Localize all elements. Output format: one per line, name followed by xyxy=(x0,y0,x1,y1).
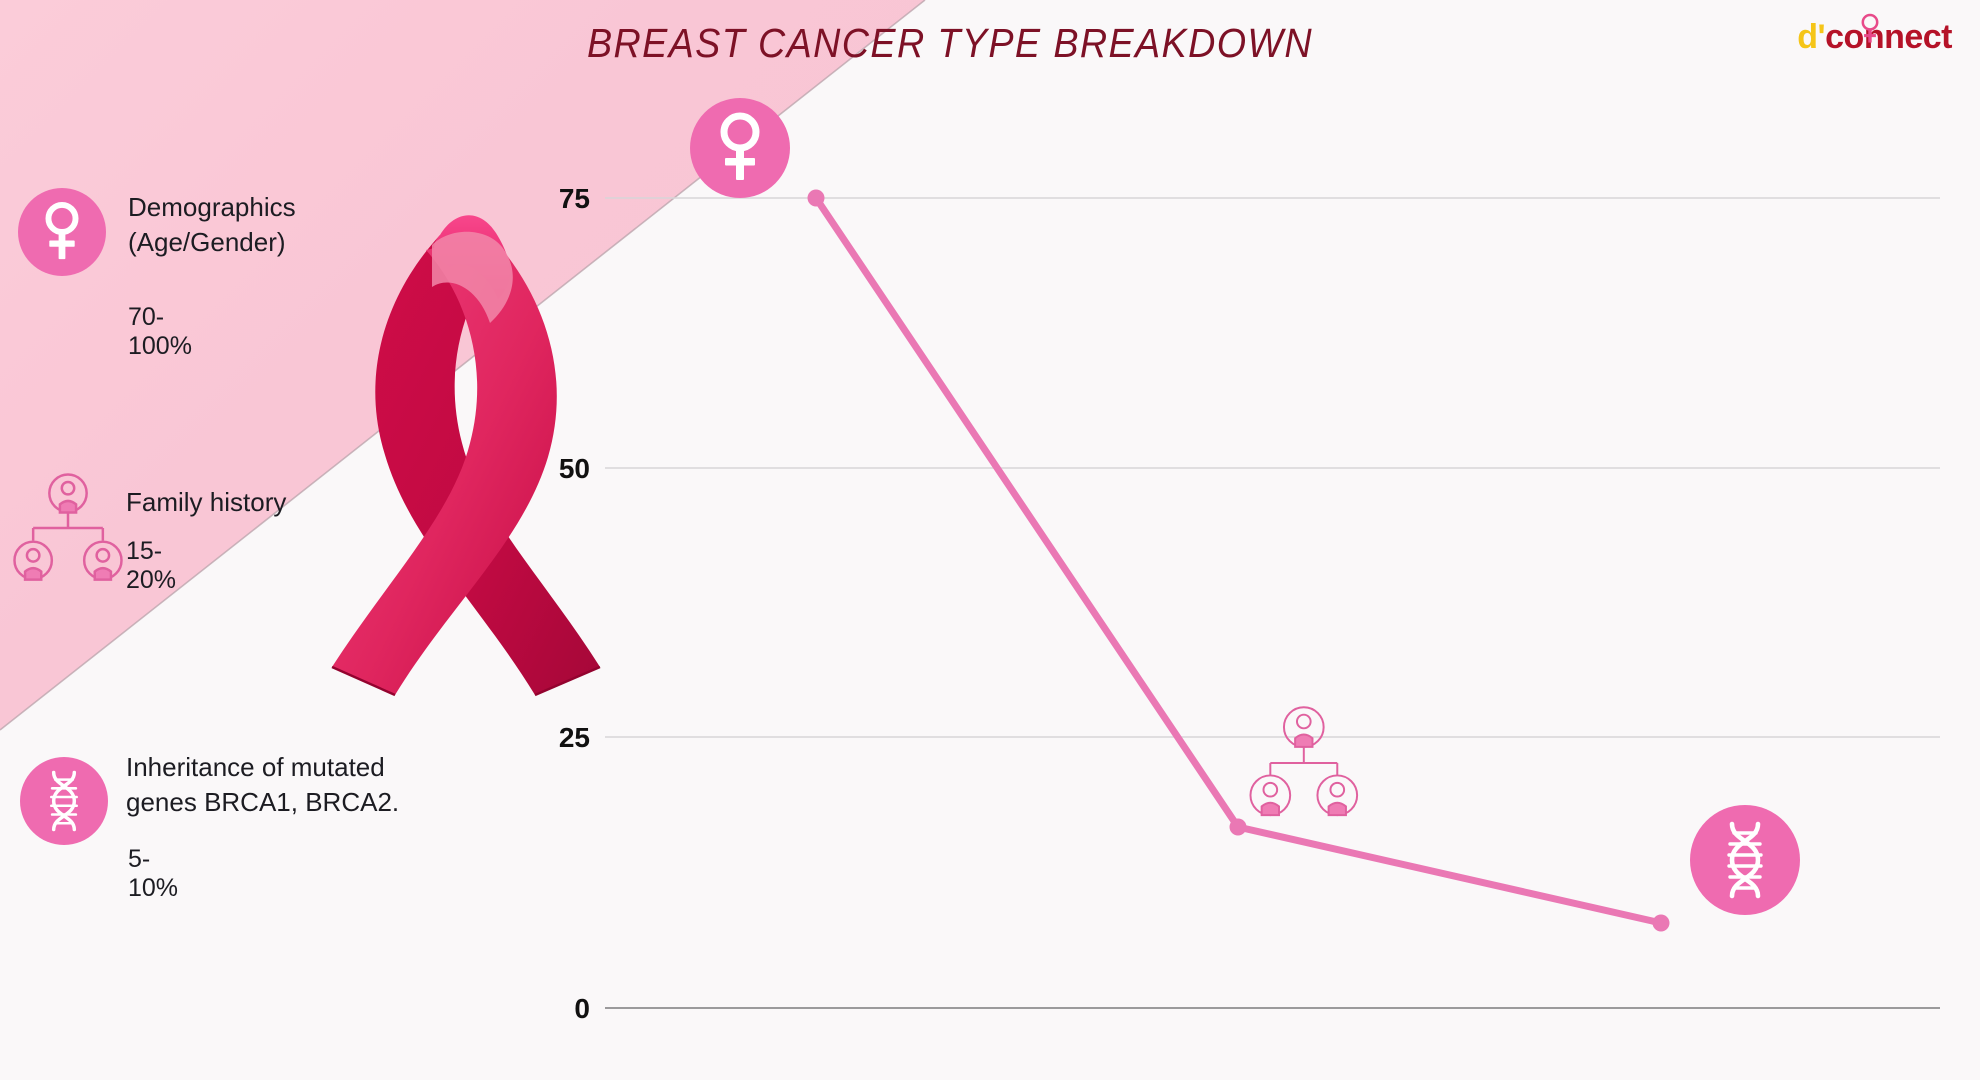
family-tree-icon xyxy=(12,472,124,584)
venus-icon xyxy=(714,110,766,186)
y-tick-75: 75 xyxy=(520,183,590,215)
sidebar-item-percent-family-history: 15-20% xyxy=(126,537,176,595)
infographic-canvas: 75 50 25 0 xyxy=(0,0,1980,1080)
data-point-1 xyxy=(808,190,825,207)
y-tick-25: 25 xyxy=(520,722,590,754)
data-point-3 xyxy=(1653,915,1670,932)
venus-badge xyxy=(18,188,106,276)
y-tick-50: 50 xyxy=(520,453,590,485)
chart-marker-dna-badge xyxy=(1690,805,1800,915)
data-point-2 xyxy=(1230,819,1247,836)
logo-d-text: d' xyxy=(1797,18,1825,57)
brand-logo[interactable]: d' connect xyxy=(1797,18,1952,57)
dna-badge xyxy=(20,757,108,845)
venus-icon xyxy=(1859,12,1881,46)
sidebar-item-percent-inheritance: 5-10% xyxy=(128,845,178,903)
dna-icon xyxy=(1716,819,1774,901)
logo-connect-text: connect xyxy=(1825,18,1952,57)
dna-icon xyxy=(41,767,87,835)
sidebar-item-label-inheritance: Inheritance of mutated genes BRCA1, BRCA… xyxy=(126,750,466,819)
page-title: BREAST CANCER TYPE BREAKDOWN xyxy=(536,20,1364,67)
chart-marker-venus-badge xyxy=(690,98,790,198)
chart-series-line xyxy=(808,190,1670,932)
venus-icon xyxy=(40,199,84,265)
sidebar-item-label-family-history: Family history xyxy=(126,485,416,520)
sidebar-item-percent-demographics: 70-100% xyxy=(128,303,192,361)
sidebar-item-label-demographics: Demographics (Age/Gender) xyxy=(128,190,418,259)
y-tick-0: 0 xyxy=(520,993,590,1025)
family-tree-icon xyxy=(1250,707,1357,815)
